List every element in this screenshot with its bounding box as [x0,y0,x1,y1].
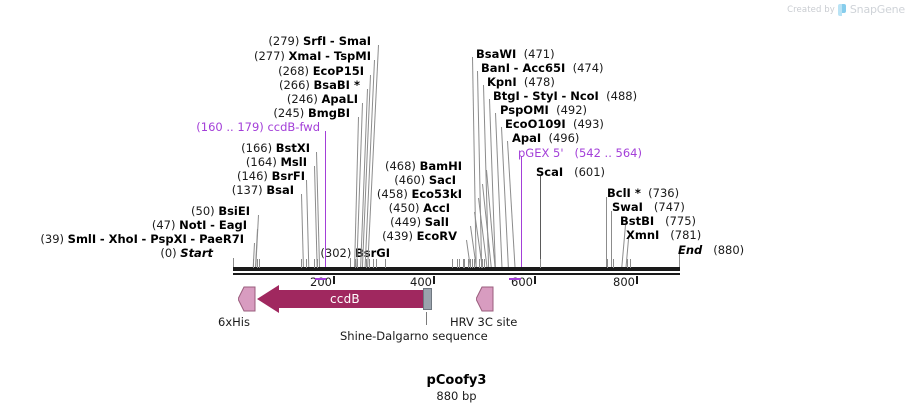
feature-ccdb-label: ccdB [330,292,360,306]
watermark-prefix: Created by [787,5,835,15]
enzyme-label-apai[interactable]: ApaI (496) [512,132,579,144]
site-mark-460 [464,259,465,268]
site-mark-166 [317,259,318,268]
enzyme-label-ecop15i[interactable]: (268) EcoP15I [278,65,364,77]
feature-shine-dalgarno[interactable] [423,288,432,310]
enzyme-label-ecorv[interactable]: (439) EcoRV [382,230,457,242]
primer-label-pgex5[interactable]: pGEX 5' (542 .. 564) [518,147,642,159]
enzyme-label-smli-xhoi-pspxi-paer7i[interactable]: (39) SmlI - XhoI - PspXI - PaeR7I [40,233,244,245]
site-mark-439 [452,259,453,268]
site-mark-137 [301,259,302,268]
site-mark-50 [259,259,260,268]
leader-line-bsawi [472,57,477,268]
enzyme-label-bani-acc65i[interactable]: BanI - Acc65I (474) [481,62,604,74]
site-mark-449 [457,259,458,268]
primer-label-ccdb-fwd[interactable]: (160 .. 179) ccdB-fwd [196,121,320,133]
site-mark-488 [479,259,480,268]
leader-line-pgex5-primer [521,156,522,268]
enzyme-label-bmgbi[interactable]: (245) BmgBI [273,107,350,119]
site-mark-474 [472,259,473,268]
enzyme-label-pspomi[interactable]: PspOMI (492) [500,104,587,116]
enzyme-label-swai[interactable]: SwaI (747) [612,201,685,213]
site-mark-266 [366,259,367,268]
enzyme-label-bsrfi[interactable]: (146) BsrFI [237,170,305,182]
enzyme-label-bstbi[interactable]: BstBI (775) [620,215,696,227]
terminal-label-start[interactable]: (0) Start [160,247,213,259]
site-mark-747 [613,259,614,268]
site-mark-47 [257,259,258,268]
site-mark-302 [385,259,386,268]
site-mark-493 [482,259,483,268]
enzyme-label-bsawi[interactable]: BsaWI (471) [476,48,555,60]
enzyme-label-scai[interactable]: ScaI (601) [536,166,605,178]
ruler-tick-400 [433,276,435,284]
terminal-label-end[interactable]: End (880) [678,244,744,256]
site-mark-478 [474,259,475,268]
site-mark-246 [357,259,358,268]
leader-line-bcli [606,197,607,268]
plasmid-size: 880 bp [0,389,913,403]
snapgene-watermark: Created by SnapGene [787,3,905,16]
enzyme-label-srfi-smai[interactable]: (279) SrfI - SmaI [268,35,371,47]
site-mark-277 [373,259,374,268]
leader-line-bsrfi [306,180,309,268]
site-mark-146 [306,259,307,268]
enzyme-label-kpni[interactable]: KpnI (478) [487,76,555,88]
feature-caption-6xhis: 6xHis [218,315,250,329]
leader-line-bsai [301,194,304,268]
feature-caption-hrv3c: HRV 3C site [450,315,517,329]
plasmid-name: pCoofy3 [0,373,913,388]
enzyme-label-btgi-styi-ncoi[interactable]: BtgI - StyI - NcoI (488) [493,90,637,102]
primer-bar-ccdb-fwd[interactable] [315,278,326,280]
site-mark-268 [369,259,370,268]
enzyme-label-bsiei[interactable]: (50) BsiEI [191,205,250,217]
enzyme-label-acci[interactable]: (450) AccI [389,202,450,214]
ruler-tick-label-800: 800 [613,275,635,289]
leader-line-apai [507,141,516,268]
leader-line-end [679,254,680,268]
feature-hrv3c-site[interactable] [476,286,494,312]
site-mark-39 [253,259,254,268]
enzyme-label-xmai-tspmi[interactable]: (277) XmaI - TspMI [254,50,371,62]
enzyme-label-sali[interactable]: (449) SalI [390,216,449,228]
site-mark-245 [355,259,356,268]
watermark-brand: SnapGene [850,3,905,16]
primer-bar-pgex5[interactable] [509,278,521,280]
enzyme-label-bstxi[interactable]: (166) BstXI [241,142,310,154]
ruler-tick-600 [534,276,536,284]
caption-tick-shine-dalgarno [426,312,427,325]
enzyme-label-msli[interactable]: (164) MslI [246,156,307,168]
enzyme-label-apali[interactable]: (246) ApaLI [287,93,358,105]
feature-caption-shine-dalgarno: Shine-Dalgarno sequence [340,329,488,343]
leader-line-scai [540,176,541,268]
snapgene-map-canvas: Created by SnapGene (279) SrfI - SmaI (2… [0,0,913,409]
site-mark-601 [540,259,541,268]
leader-line-swai [611,211,612,268]
site-mark-781 [630,259,631,268]
site-mark-450 [459,259,460,268]
enzyme-label-bsai[interactable]: (137) BsaI [232,184,294,196]
enzyme-label-noti-eagi[interactable]: (47) NotI - EagI [152,219,247,231]
feature-6xhis-tag[interactable] [238,286,256,312]
site-mark-471 [470,259,471,268]
enzyme-label-bcli[interactable]: BclI * (736) [607,187,679,199]
enzyme-label-bamhi[interactable]: (468) BamHI [385,160,462,172]
leader-line-ccdb-fwd-primer [325,131,326,268]
ruler-tick-800 [636,276,638,284]
site-mark-164 [314,259,315,268]
enzyme-label-eco53ki[interactable]: (458) Eco53kI [377,188,462,200]
site-mark-775 [627,259,628,268]
enzyme-label-bsabi[interactable]: (266) BsaBI * [279,79,360,91]
site-mark-496 [484,259,485,268]
enzyme-label-xmni[interactable]: XmnI (781) [626,229,701,241]
site-mark-736 [607,259,608,268]
ruler-tick-200 [333,276,335,284]
enzyme-label-saci[interactable]: (460) SacI [394,174,456,186]
enzyme-label-ecoo109i[interactable]: EcoO109I (493) [505,118,604,130]
snapgene-logo-icon [838,4,847,16]
site-mark-468 [468,259,469,268]
site-mark-279 [376,259,377,268]
